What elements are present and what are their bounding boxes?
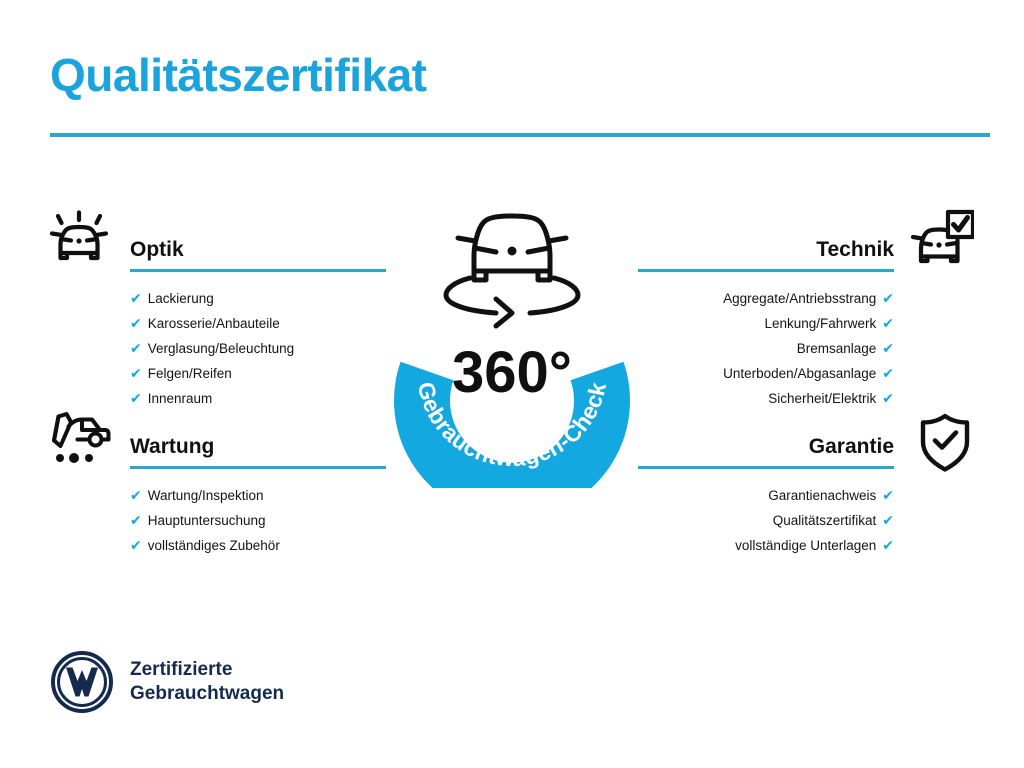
list-item-label: Garantienachweis bbox=[768, 484, 876, 508]
list-item: Lenkung/Fahrwerk ✔ bbox=[638, 311, 894, 336]
checklist-garantie: Garantienachweis ✔ Qualitätszertifikat ✔… bbox=[638, 483, 894, 558]
list-item: ✔ Karosserie/Anbauteile bbox=[130, 311, 386, 336]
list-item-label: Bremsanlage bbox=[797, 337, 877, 361]
check-icon: ✔ bbox=[130, 311, 142, 335]
list-item-label: Unterboden/Abgasanlage bbox=[723, 362, 876, 386]
check-icon: ✔ bbox=[130, 286, 142, 310]
check-icon: ✔ bbox=[882, 361, 894, 385]
footer-brand-text: Zertifizierte Gebrauchtwagen bbox=[130, 658, 284, 707]
checklist-wartung: ✔ Wartung/Inspektion ✔ Hauptuntersuchung… bbox=[130, 483, 386, 558]
car-rotation-icon bbox=[446, 216, 578, 326]
section-title-optik: Optik bbox=[130, 238, 386, 262]
check-icon: ✔ bbox=[130, 336, 142, 360]
car-checkbox-icon bbox=[908, 208, 974, 270]
list-item-label: vollständige Unterlagen bbox=[735, 534, 876, 558]
section-garantie: Garantie Garantienachweis ✔ Qualitätszer… bbox=[638, 435, 894, 558]
list-item: ✔ Felgen/Reifen bbox=[130, 361, 386, 386]
section-divider-garantie bbox=[638, 466, 894, 469]
section-divider-wartung bbox=[130, 466, 386, 469]
list-item: Unterboden/Abgasanlage ✔ bbox=[638, 361, 894, 386]
list-item: Aggregate/Antriebsstrang ✔ bbox=[638, 286, 894, 311]
check-icon: ✔ bbox=[882, 311, 894, 335]
section-divider-optik bbox=[130, 269, 386, 272]
list-item: Qualitätszertifikat ✔ bbox=[638, 508, 894, 533]
check-icon: ✔ bbox=[882, 386, 894, 410]
section-wartung: Wartung ✔ Wartung/Inspektion ✔ Hauptunte… bbox=[130, 435, 386, 558]
list-item-label: Felgen/Reifen bbox=[148, 362, 232, 386]
check-icon: ✔ bbox=[130, 508, 142, 532]
checklist-optik: ✔ Lackierung ✔ Karosserie/Anbauteile ✔ V… bbox=[130, 286, 386, 411]
shield-check-icon bbox=[912, 412, 978, 474]
check-icon: ✔ bbox=[882, 286, 894, 310]
check-icon: ✔ bbox=[130, 386, 142, 410]
car-service-pencil-icon bbox=[46, 408, 112, 470]
list-item-label: Lenkung/Fahrwerk bbox=[764, 312, 876, 336]
check-icon: ✔ bbox=[882, 533, 894, 557]
check-icon: ✔ bbox=[882, 508, 894, 532]
list-item-label: Aggregate/Antriebsstrang bbox=[723, 287, 876, 311]
title-divider bbox=[50, 133, 990, 137]
list-item-label: Hauptuntersuchung bbox=[148, 509, 266, 533]
check-icon: ✔ bbox=[882, 483, 894, 507]
check-icon: ✔ bbox=[130, 533, 142, 557]
section-title-technik: Technik bbox=[638, 238, 894, 262]
list-item-label: Sicherheit/Elektrik bbox=[768, 387, 876, 411]
list-item: ✔ Lackierung bbox=[130, 286, 386, 311]
page-title: Qualitätszertifikat bbox=[50, 50, 427, 101]
list-item-label: Lackierung bbox=[148, 287, 214, 311]
badge-360-gebrauchtwagen-check: Gebrauchtwagen-Check 360° bbox=[378, 196, 646, 488]
list-item-label: Innenraum bbox=[148, 387, 213, 411]
footer-line-1: Zertifizierte bbox=[130, 658, 284, 682]
section-title-garantie: Garantie bbox=[638, 435, 894, 459]
list-item: Bremsanlage ✔ bbox=[638, 336, 894, 361]
list-item: vollständige Unterlagen ✔ bbox=[638, 533, 894, 558]
check-icon: ✔ bbox=[130, 361, 142, 385]
list-item-label: Verglasung/Beleuchtung bbox=[148, 337, 294, 361]
footer-line-2: Gebrauchtwagen bbox=[130, 682, 284, 706]
badge-center-text: 360° bbox=[452, 340, 572, 405]
section-divider-technik bbox=[638, 269, 894, 272]
list-item-label: vollständiges Zubehör bbox=[148, 534, 280, 558]
certificate-page: Qualitätszertifikat Optik ✔ Lackierung bbox=[0, 0, 1024, 768]
list-item: Garantienachweis ✔ bbox=[638, 483, 894, 508]
list-item-label: Karosserie/Anbauteile bbox=[148, 312, 280, 336]
check-icon: ✔ bbox=[130, 483, 142, 507]
car-shine-icon bbox=[46, 208, 112, 270]
list-item: ✔ Innenraum bbox=[130, 386, 386, 411]
list-item-label: Qualitätszertifikat bbox=[773, 509, 877, 533]
list-item-label: Wartung/Inspektion bbox=[148, 484, 264, 508]
section-optik: Optik ✔ Lackierung ✔ Karosserie/Anbautei… bbox=[130, 238, 386, 411]
vw-logo-icon bbox=[50, 650, 114, 714]
list-item: ✔ vollständiges Zubehör bbox=[130, 533, 386, 558]
check-icon: ✔ bbox=[882, 336, 894, 360]
checklist-technik: Aggregate/Antriebsstrang ✔ Lenkung/Fahrw… bbox=[638, 286, 894, 411]
list-item: Sicherheit/Elektrik ✔ bbox=[638, 386, 894, 411]
list-item: ✔ Hauptuntersuchung bbox=[130, 508, 386, 533]
list-item: ✔ Wartung/Inspektion bbox=[130, 483, 386, 508]
section-title-wartung: Wartung bbox=[130, 435, 386, 459]
list-item: ✔ Verglasung/Beleuchtung bbox=[130, 336, 386, 361]
footer-brand: Zertifizierte Gebrauchtwagen bbox=[50, 650, 284, 714]
section-technik: Technik Aggregate/Antriebsstrang ✔ Lenku… bbox=[638, 238, 894, 411]
